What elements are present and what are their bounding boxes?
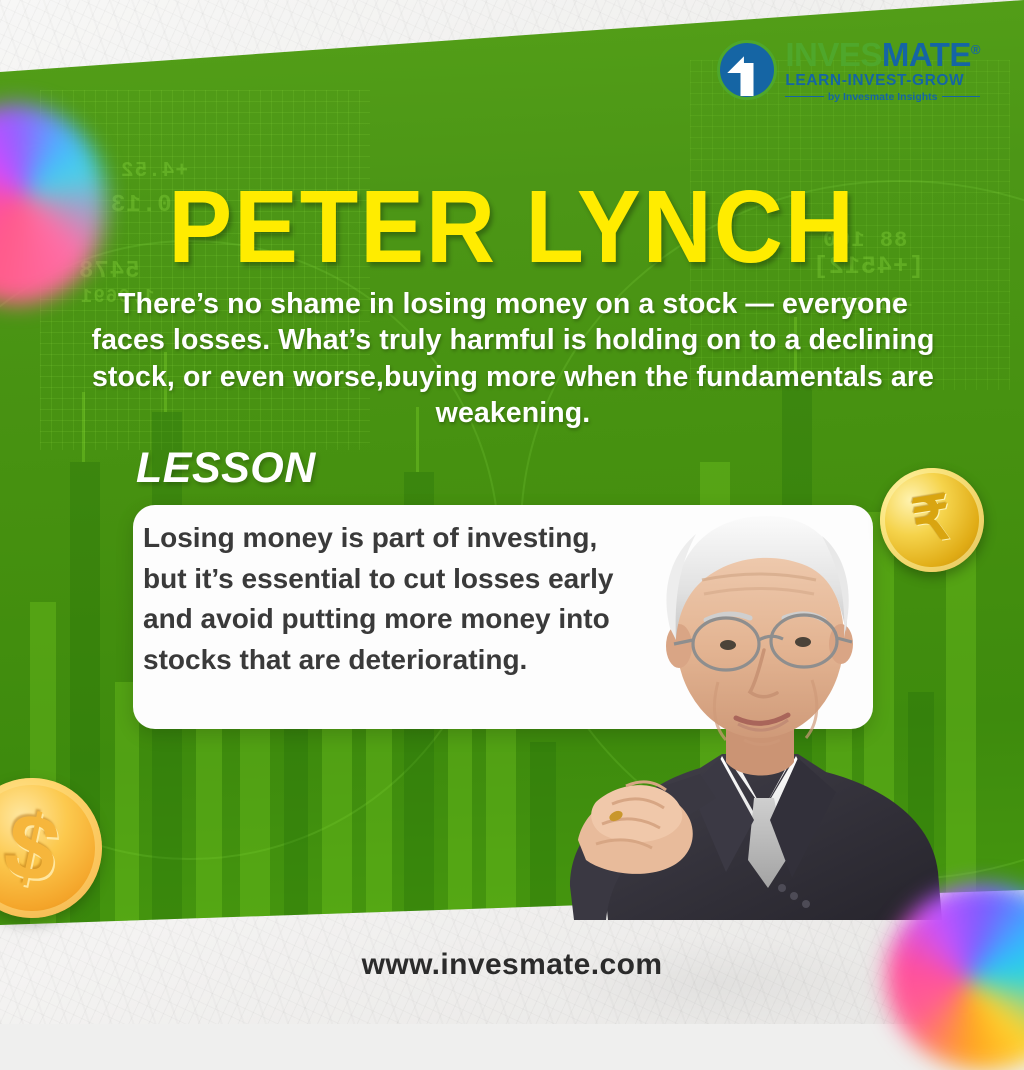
invesmate-logo[interactable]: INVESMATE® LEARN-INVEST-GROW by Invesmat… — [717, 38, 980, 102]
logo-wordmark: INVESMATE® LEARN-INVEST-GROW by Invesmat… — [785, 38, 980, 102]
lesson-body-text: Losing money is part of investing, but i… — [143, 518, 643, 680]
logo-byline-row: by Invesmate Insights — [785, 92, 980, 103]
website-url[interactable]: www.invesmate.com — [0, 948, 1024, 982]
logo-name-part1: INVES — [785, 36, 882, 73]
logo-name-part2: MATE — [882, 36, 971, 73]
dollar-symbol: $ — [0, 798, 67, 899]
invesmate-circle-i-icon — [717, 40, 777, 100]
logo-byline: by Invesmate Insights — [828, 92, 938, 103]
logo-tagline: LEARN-INVEST-GROW — [785, 73, 980, 89]
page-title: PETER LYNCH — [36, 178, 988, 276]
registered-trademark-icon: ® — [971, 42, 980, 57]
quote-text: There’s no shame in losing money on a st… — [78, 286, 948, 432]
lesson-heading: LESSON — [136, 444, 316, 493]
logo-name: INVESMATE® — [785, 38, 980, 71]
rupee-symbol: ₹ — [908, 487, 955, 552]
